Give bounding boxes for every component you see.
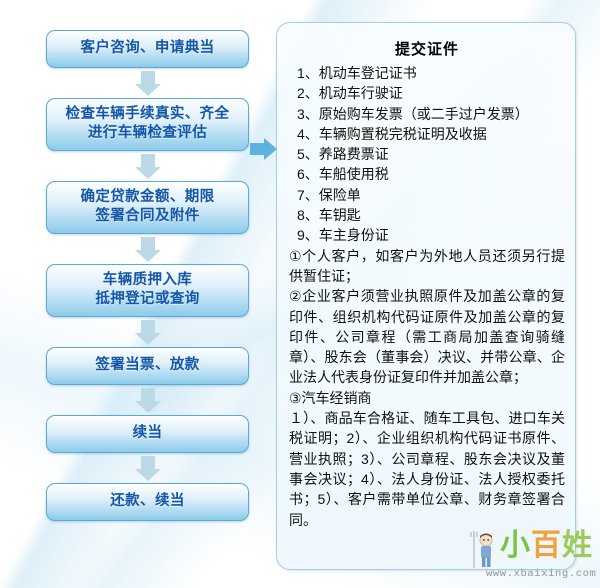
- required-documents-panel: 提交证件 1、机动车登记证书 2、机动车行驶证 3、原始购车发票（或二手过户发票…: [276, 22, 576, 570]
- arrow-shaft: [141, 388, 155, 402]
- document-list-item: 5、养路费票证: [289, 144, 565, 164]
- flow-node-label: 确定贷款金额、期限: [51, 188, 244, 207]
- document-note-dealer-heading: ③汽车经销商: [289, 388, 565, 408]
- arrow-shaft: [141, 320, 155, 334]
- document-list-item: 3、原始购车发票（或二手过户发票）: [289, 104, 565, 124]
- flow-node-label: 签署当票、放款: [51, 356, 244, 375]
- flow-node-label: 还款、续当: [51, 492, 244, 511]
- document-note-dealer-details: １）、商品车合格证、随车工具包、进口车关税证明；2）、企业组织机构代码证书原件、…: [289, 408, 565, 530]
- flow-node-label: 检查车辆手续真实、齐全: [51, 105, 244, 124]
- document-list-item: 8、车钥匙: [289, 205, 565, 225]
- document-list-item: 7、保险单: [289, 185, 565, 205]
- document-list-item: 4、车辆购置税完税证明及收据: [289, 124, 565, 144]
- flow-arrow-down-2: [46, 151, 249, 181]
- flow-node-sign-ticket-disburse[interactable]: 签署当票、放款: [46, 347, 249, 385]
- arrow-shaft: [141, 237, 155, 251]
- flow-node-vehicle-pledge-storage[interactable]: 车辆质押入库 抵押登记或查询: [46, 264, 249, 317]
- document-list-item: 9、车主身份证: [289, 225, 565, 245]
- document-list-item: 6、车船使用税: [289, 164, 565, 184]
- document-list-item: 2、机动车行驶证: [289, 83, 565, 103]
- flow-node-label: 车辆质押入库: [51, 271, 244, 290]
- arrow-head-down-icon: [135, 84, 161, 96]
- arrow-shaft: [250, 143, 265, 155]
- flow-node-label: 进行车辆检查评估: [51, 124, 244, 143]
- flow-node-customer-inquiry[interactable]: 客户咨询、申请典当: [46, 30, 249, 68]
- flow-arrow-down-1: [46, 68, 249, 98]
- arrow-shaft: [141, 456, 155, 470]
- arrow-head-down-icon: [135, 469, 161, 481]
- flow-arrow-right-icon: [250, 138, 278, 160]
- arrow-head-down-icon: [135, 167, 161, 179]
- documents-panel-title: 提交证件: [289, 38, 565, 59]
- flow-node-loan-terms-contract[interactable]: 确定贷款金额、期限 签署合同及附件: [46, 181, 249, 234]
- arrow-shaft: [141, 71, 155, 85]
- flow-node-label: 客户咨询、申请典当: [51, 39, 244, 58]
- arrow-head-right-icon: [264, 138, 277, 160]
- arrow-head-down-icon: [135, 401, 161, 413]
- document-note-individual-customer: ①个人客户，如客户为外地人员还须另行提供暂住证；: [289, 246, 565, 287]
- flow-node-label: 抵押登记或查询: [51, 290, 244, 309]
- flow-arrow-down-3: [46, 234, 249, 264]
- flow-node-repay-renew[interactable]: 还款、续当: [46, 483, 249, 521]
- process-flowchart: 客户咨询、申请典当 检查车辆手续真实、齐全 进行车辆检查评估 确定贷款金额、期限…: [46, 30, 249, 521]
- flow-arrow-down-6: [46, 453, 249, 483]
- arrow-shaft: [141, 154, 155, 168]
- document-note-enterprise-customer: ②企业客户须营业执照原件及加盖公章的复印件、组织机构代码证原件及加盖公章的复印件…: [289, 286, 565, 387]
- flow-arrow-down-4: [46, 317, 249, 347]
- document-list-item: 1、机动车登记证书: [289, 63, 565, 83]
- flow-arrow-down-5: [46, 385, 249, 415]
- arrow-head-down-icon: [135, 250, 161, 262]
- flow-node-vehicle-inspection[interactable]: 检查车辆手续真实、齐全 进行车辆检查评估: [46, 98, 249, 151]
- flow-node-renew-pawn[interactable]: 续当: [46, 415, 249, 453]
- flow-node-label: 续当: [51, 424, 244, 443]
- flow-node-label: 签署合同及附件: [51, 207, 244, 226]
- arrow-head-down-icon: [135, 333, 161, 345]
